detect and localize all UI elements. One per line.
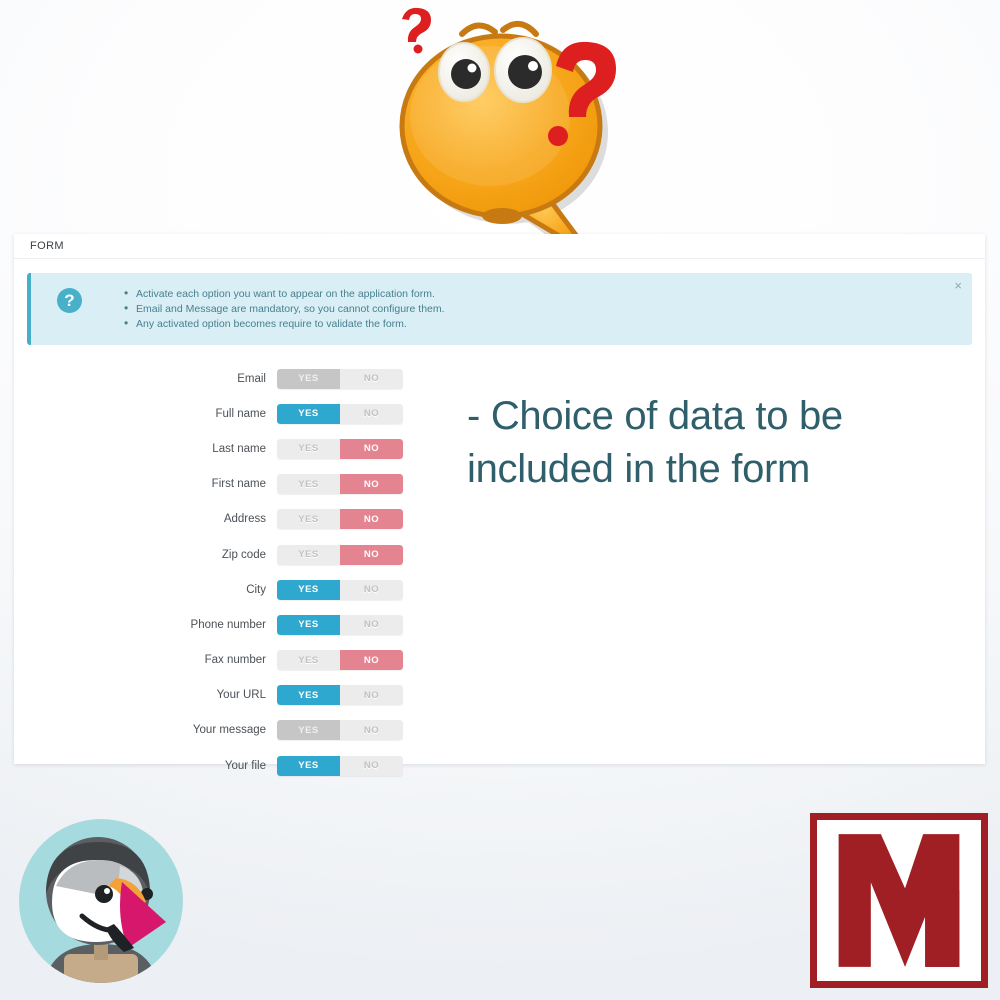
toggle-first-name[interactable]: YESNO bbox=[277, 474, 403, 494]
page-title: FORM bbox=[30, 240, 64, 252]
toggle-full-name[interactable]: YESNO bbox=[277, 404, 403, 424]
toggle-yes-option[interactable]: YES bbox=[277, 720, 340, 740]
toggle-yes-option[interactable]: YES bbox=[277, 685, 340, 705]
toggle-no-option[interactable]: NO bbox=[340, 720, 403, 740]
toggle-yes-option[interactable]: YES bbox=[277, 439, 340, 459]
toggle-no-option[interactable]: NO bbox=[340, 369, 403, 389]
close-icon[interactable]: × bbox=[954, 279, 962, 292]
toggle-your-message[interactable]: YESNO bbox=[277, 720, 403, 740]
form-option-label: Full name bbox=[27, 408, 277, 420]
form-option-label: First name bbox=[27, 478, 277, 490]
toggle-no-option[interactable]: NO bbox=[340, 650, 403, 670]
toggle-city[interactable]: YESNO bbox=[277, 580, 403, 600]
toggle-zip-code[interactable]: YESNO bbox=[277, 545, 403, 565]
toggle-fax-number[interactable]: YESNO bbox=[277, 650, 403, 670]
toggle-no-option[interactable]: NO bbox=[340, 439, 403, 459]
page-root: FORM ? Activate each option you want to … bbox=[0, 0, 1000, 1000]
form-option-label: Address bbox=[27, 513, 277, 525]
info-bullet: Any activated option becomes require to … bbox=[124, 317, 445, 332]
form-settings-panel: FORM ? Activate each option you want to … bbox=[14, 234, 985, 764]
form-option-row: Your URLYESNO bbox=[27, 678, 972, 713]
toggle-no-option[interactable]: NO bbox=[340, 545, 403, 565]
form-option-label: Email bbox=[27, 373, 277, 385]
form-option-label: Your message bbox=[27, 724, 277, 736]
toggle-phone-number[interactable]: YESNO bbox=[277, 615, 403, 635]
toggle-your-url[interactable]: YESNO bbox=[277, 685, 403, 705]
toggle-yes-option[interactable]: YES bbox=[277, 369, 340, 389]
form-option-row: AddressYESNO bbox=[27, 502, 972, 537]
toggle-no-option[interactable]: NO bbox=[340, 756, 403, 776]
thinking-speech-bubble-mascot bbox=[378, 4, 630, 262]
annotation-callout: - Choice of data to be included in the f… bbox=[467, 390, 937, 496]
toggle-no-option[interactable]: NO bbox=[340, 509, 403, 529]
toggle-no-option[interactable]: NO bbox=[340, 474, 403, 494]
toggle-address[interactable]: YESNO bbox=[277, 509, 403, 529]
toggle-no-option[interactable]: NO bbox=[340, 580, 403, 600]
info-alert: ? Activate each option you want to appea… bbox=[27, 273, 972, 345]
panel-body: ? Activate each option you want to appea… bbox=[14, 259, 985, 783]
toggle-yes-option[interactable]: YES bbox=[277, 756, 340, 776]
question-mark-icon: ? bbox=[57, 288, 82, 313]
form-option-label: Zip code bbox=[27, 549, 277, 561]
form-option-label: Phone number bbox=[27, 619, 277, 631]
form-option-label: City bbox=[27, 584, 277, 596]
annotation-line-2: included in the form bbox=[467, 443, 937, 496]
form-option-row: CityYESNO bbox=[27, 572, 972, 607]
toggle-yes-option[interactable]: YES bbox=[277, 509, 340, 529]
form-option-row: Zip codeYESNO bbox=[27, 537, 972, 572]
form-option-label: Last name bbox=[27, 443, 277, 455]
toggle-yes-option[interactable]: YES bbox=[277, 580, 340, 600]
form-option-row: Phone numberYESNO bbox=[27, 607, 972, 642]
panel-header: FORM bbox=[14, 234, 985, 259]
toggle-no-option[interactable]: NO bbox=[340, 685, 403, 705]
toggle-yes-option[interactable]: YES bbox=[277, 474, 340, 494]
form-option-label: Fax number bbox=[27, 654, 277, 666]
m-letter-logo bbox=[810, 813, 988, 988]
prestashop-puffin-logo bbox=[16, 816, 186, 986]
toggle-no-option[interactable]: NO bbox=[340, 615, 403, 635]
toggle-no-option[interactable]: NO bbox=[340, 404, 403, 424]
form-option-label: Your URL bbox=[27, 689, 277, 701]
toggle-yes-option[interactable]: YES bbox=[277, 615, 340, 635]
info-bullet: Activate each option you want to appear … bbox=[124, 287, 445, 302]
info-bullet: Email and Message are mandatory, so you … bbox=[124, 302, 445, 317]
toggle-yes-option[interactable]: YES bbox=[277, 545, 340, 565]
annotation-line-1: - Choice of data to be bbox=[467, 390, 937, 443]
toggle-email[interactable]: YESNO bbox=[277, 369, 403, 389]
toggle-your-file[interactable]: YESNO bbox=[277, 756, 403, 776]
toggle-yes-option[interactable]: YES bbox=[277, 650, 340, 670]
info-bullet-list: Activate each option you want to appear … bbox=[124, 286, 445, 332]
form-option-row: Your messageYESNO bbox=[27, 713, 972, 748]
toggle-yes-option[interactable]: YES bbox=[277, 404, 340, 424]
form-option-label: Your file bbox=[27, 760, 277, 772]
form-option-row: Fax numberYESNO bbox=[27, 643, 972, 678]
toggle-last-name[interactable]: YESNO bbox=[277, 439, 403, 459]
form-option-row: Your fileYESNO bbox=[27, 748, 972, 783]
